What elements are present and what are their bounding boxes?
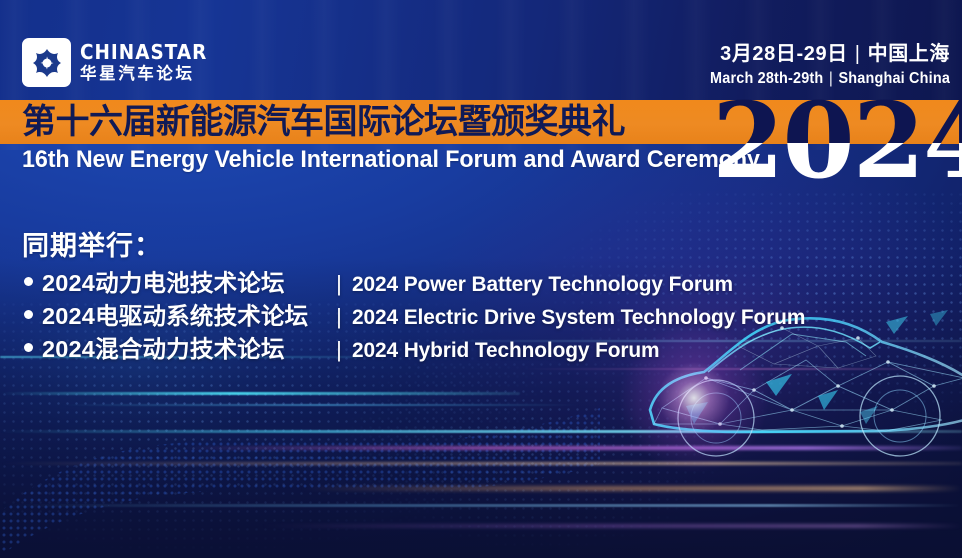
forum-name-chinese: 2024电驱动系统技术论坛 [42,297,326,331]
year-display: 2024 2024 [712,92,962,190]
forum-name-english: 2024 Power Battery Technology Forum [352,272,733,297]
event-banner: CHINASTAR 华星汽车论坛 3月28日-29日|中国上海 March 28… [0,0,962,558]
bullet-icon [24,277,33,286]
logo-chinese-name: 华星汽车论坛 [80,65,218,84]
forum-divider: | [326,337,352,363]
event-title-english: 16th New Energy Vehicle International Fo… [22,146,760,174]
date-location-block: 3月28日-29日|中国上海 March 28th-29th|Shanghai … [692,42,950,89]
forum-divider: | [326,271,352,297]
event-title-chinese: 第十六届新能源汽车国际论坛暨颁奖典礼 [22,100,625,144]
location-chinese: 中国上海 [868,43,950,65]
forum-name-chinese: 2024动力电池技术论坛 [42,264,326,298]
date-separator-english: | [823,70,838,87]
forum-row: 2024电驱动系统技术论坛 | 2024 Electric Drive Syst… [24,297,819,327]
logo-english-name: CHINASTAR [80,42,207,63]
logo-wordmark: CHINASTAR 华星汽车论坛 [80,42,218,84]
forum-row: 2024混合动力技术论坛 | 2024 Hybrid Technology Fo… [24,330,819,360]
bullet-icon [24,343,33,352]
date-separator-chinese: | [848,43,868,65]
concurrent-forum-list: 2024动力电池技术论坛 | 2024 Power Battery Techno… [24,264,819,360]
date-location-english: March 28th-29th|Shanghai China [710,69,950,89]
forum-row: 2024动力电池技术论坛 | 2024 Power Battery Techno… [24,264,819,294]
bullet-icon [24,310,33,319]
forum-divider: | [326,304,352,330]
date-chinese: 3月28日-29日 [720,43,848,65]
forum-name-chinese: 2024混合动力技术论坛 [42,330,326,364]
location-english: Shanghai China [838,70,950,87]
chinastar-logo[interactable]: CHINASTAR 华星汽车论坛 [22,38,218,87]
chinastar-emblem-icon [22,38,71,87]
forum-name-english: 2024 Hybrid Technology Forum [352,338,659,363]
date-english: March 28th-29th [710,70,823,87]
date-location-chinese: 3月28日-29日|中国上海 [692,42,950,67]
concurrent-events-label: 同期举行： [22,224,162,263]
forum-name-english: 2024 Electric Drive System Technology Fo… [352,305,805,330]
